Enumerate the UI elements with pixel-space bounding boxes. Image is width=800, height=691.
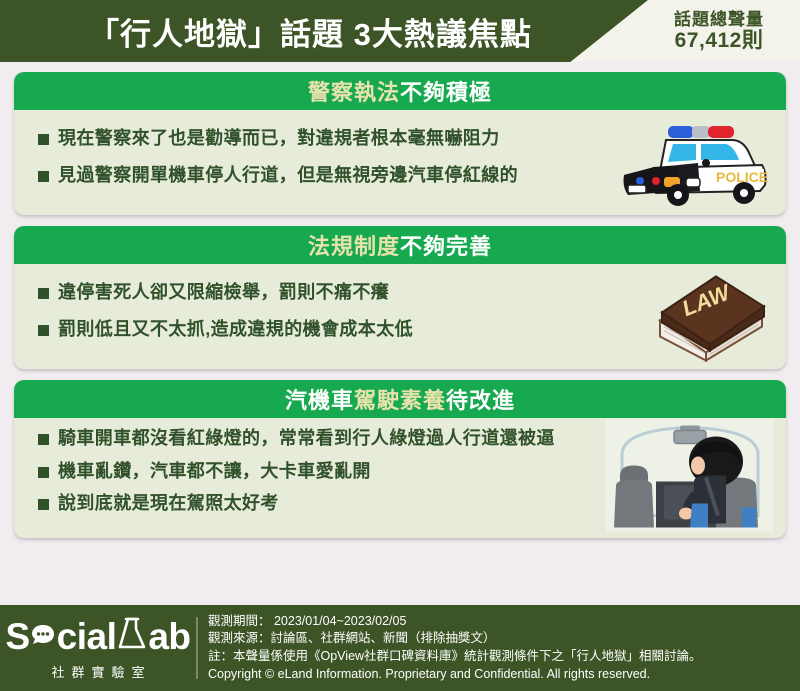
bullet-square-icon bbox=[38, 134, 49, 145]
card-title-law: 法規制度不夠完善 bbox=[308, 229, 492, 261]
card-body-driver: 騎車開車都沒看紅綠燈的，常常看到行人綠燈過人行道還被逼 機車亂鑽，汽車都不讓，大… bbox=[14, 418, 786, 538]
bullet-text: 現在警察來了也是勸導而已，對違規者根本毫無嚇阻力 bbox=[58, 128, 500, 149]
card-title-plain: 不夠完善 bbox=[400, 234, 492, 259]
speech-bubble-icon bbox=[30, 621, 56, 652]
topic-card-police: 警察執法不夠積極 現在警察來了也是勸導而已，對違規者根本毫無嚇阻力 見過警察開單… bbox=[14, 72, 786, 215]
topic-card-driver: 汽機車駕駛素養待改進 騎車開車都沒看紅綠燈的，常常看到行人綠燈過人行道還被逼 機… bbox=[14, 380, 786, 538]
footer-period: 觀測期間： 2023/01/04~2023/02/05 bbox=[208, 613, 794, 631]
car-driver-icon bbox=[606, 420, 774, 537]
card-title-plain: 不夠積極 bbox=[400, 80, 492, 105]
law-book-icon: LAW bbox=[650, 264, 770, 369]
bullet-text: 說到底就是現在駕照太好考 bbox=[58, 493, 279, 514]
total-volume-value: 67,412則 bbox=[675, 29, 764, 53]
card-header-driver: 汽機車駕駛素養待改進 bbox=[14, 380, 786, 418]
bullet-text: 違停害死人卻又限縮檢舉，罰則不痛不癢 bbox=[58, 282, 389, 303]
topic-card-list: 警察執法不夠積極 現在警察來了也是勸導而已，對違規者根本毫無嚇阻力 見過警察開單… bbox=[0, 62, 800, 605]
sociallab-logo: S cial ab 社群實驗室 bbox=[0, 605, 196, 691]
footer-notes: 觀測期間： 2023/01/04~2023/02/05 觀測來源：討論區、社群網… bbox=[208, 613, 800, 684]
page-header: 「行人地獄」話題 3大熱議焦點 話題總聲量 67,412則 bbox=[0, 0, 800, 62]
logo-letter-s: S bbox=[5, 618, 29, 655]
police-car-icon: POLICE bbox=[620, 113, 770, 213]
card-title-accent: 警察執法 bbox=[308, 80, 400, 105]
flask-icon bbox=[117, 616, 147, 657]
card-header-law: 法規制度不夠完善 bbox=[14, 226, 786, 264]
card-title-accent: 駕駛素養 bbox=[354, 388, 446, 413]
card-title-police: 警察執法不夠積極 bbox=[308, 75, 492, 107]
card-header-police: 警察執法不夠積極 bbox=[14, 72, 786, 110]
footer-divider bbox=[196, 617, 198, 679]
card-title-accent: 法規制度 bbox=[308, 234, 400, 259]
logo-letters-cial: cial bbox=[57, 618, 117, 655]
bullet-square-icon bbox=[38, 325, 49, 336]
card-body-law: 違停害死人卻又限縮檢舉，罰則不痛不癢 罰則低且又不太抓,造成違規的機會成本太低 bbox=[14, 264, 786, 369]
bullet-text: 見過警察開單機車停人行道，但是無視旁邊汽車停紅線的 bbox=[58, 165, 518, 186]
logo-letters-ab: ab bbox=[148, 618, 190, 655]
total-volume-label: 話題總聲量 bbox=[674, 10, 764, 29]
footer-note: 註：本聲量係使用《OpView社群口碑資料庫》統計觀測條件下之「行人地獄」相關討… bbox=[208, 648, 794, 666]
page-title: 「行人地獄」話題 3大熱議焦點 bbox=[0, 0, 620, 62]
bullet-square-icon bbox=[38, 171, 49, 182]
footer-copyright: Copyright © eLand Information. Proprieta… bbox=[208, 666, 794, 684]
bullet-text: 機車亂鑽，汽車都不讓，大卡車愛亂開 bbox=[58, 461, 371, 482]
bullet-text: 騎車開車都沒看紅綠燈的，常常看到行人綠燈過人行道還被逼 bbox=[58, 428, 555, 449]
card-title-plain: 汽機車 bbox=[285, 388, 354, 413]
bullet-square-icon bbox=[38, 288, 49, 299]
footer-source: 觀測來源：討論區、社群網站、新聞（排除抽獎文） bbox=[208, 630, 794, 648]
bullet-square-icon bbox=[38, 434, 49, 445]
logo-wordmark: S cial ab bbox=[5, 616, 190, 657]
bullet-square-icon bbox=[38, 499, 49, 510]
bullet-text: 罰則低且又不太抓,造成違規的機會成本太低 bbox=[58, 319, 413, 340]
logo-subtitle: 社群實驗室 bbox=[44, 662, 151, 681]
bullet-square-icon bbox=[38, 467, 49, 478]
topic-card-law: 法規制度不夠完善 違停害死人卻又限縮檢舉，罰則不痛不癢 罰則低且又不太抓,造成違… bbox=[14, 226, 786, 369]
page-footer: S cial ab 社群實驗室 觀測期間： 2023/01/04~202 bbox=[0, 605, 800, 691]
total-volume-stat: 話題總聲量 67,412則 bbox=[644, 2, 794, 60]
card-body-police: 現在警察來了也是勸導而已，對違規者根本毫無嚇阻力 見過警察開單機車停人行道，但是… bbox=[14, 110, 786, 215]
card-title-driver: 汽機車駕駛素養待改進 bbox=[285, 383, 515, 415]
card-title-tail: 待改進 bbox=[446, 388, 515, 413]
